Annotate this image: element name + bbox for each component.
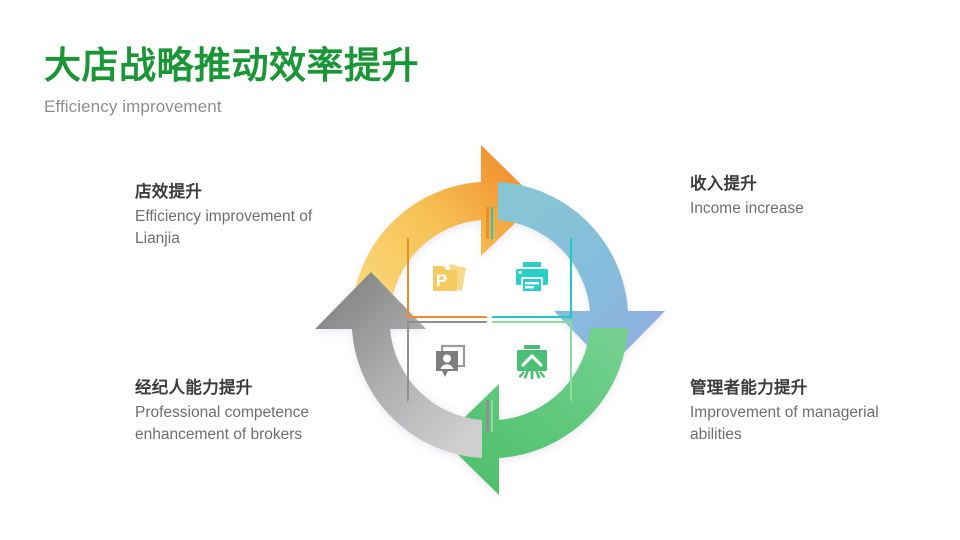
- page-subtitle: Efficiency improvement: [44, 97, 644, 117]
- callout-description: Income increase: [690, 198, 930, 220]
- callout-bottom-right: 管理者能力提升 Improvement of managerial abilit…: [690, 377, 925, 446]
- page-title: 大店战略推动效率提升: [44, 44, 644, 88]
- contact-card-icon: [428, 343, 468, 381]
- slide-header: 大店战略推动效率提升 Efficiency improvement: [44, 44, 644, 117]
- callout-title: 管理者能力提升: [690, 377, 925, 399]
- callout-title: 店效提升: [135, 181, 360, 203]
- callout-description: Professional competence enhancement of b…: [135, 402, 370, 446]
- callout-description: Improvement of managerial abilities: [690, 402, 925, 446]
- callout-description: Efficiency improvement of Lianjia: [135, 206, 360, 250]
- callout-top-left: 店效提升 Efficiency improvement of Lianjia: [135, 181, 360, 250]
- quadrant-bottom-left[interactable]: [407, 321, 488, 402]
- printer-icon: [512, 260, 552, 296]
- quadrant-top-right[interactable]: [491, 237, 572, 318]
- presentation-icon: [512, 343, 552, 381]
- callout-title: 收入提升: [690, 173, 930, 195]
- callout-top-right: 收入提升 Income increase: [690, 173, 930, 220]
- quadrant-top-left[interactable]: P: [407, 237, 488, 318]
- quadrant-bottom-right[interactable]: [491, 321, 572, 402]
- folder-p-icon: P: [428, 259, 468, 297]
- callout-title: 经纪人能力提升: [135, 377, 370, 399]
- callout-bottom-left: 经纪人能力提升 Professional competence enhancem…: [135, 377, 370, 446]
- svg-text:P: P: [435, 271, 446, 290]
